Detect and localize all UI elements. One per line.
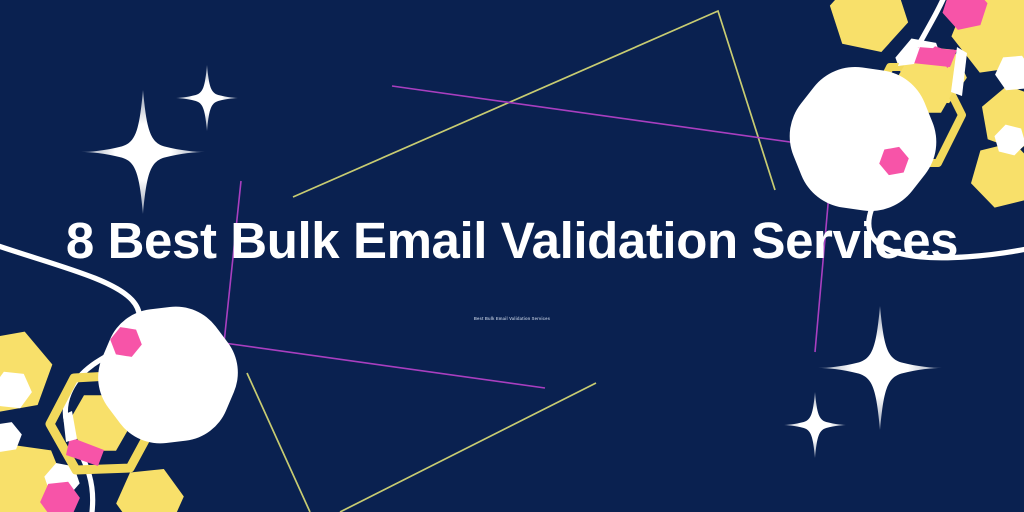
page-title: 8 Best Bulk Email Validation Services [66, 215, 958, 266]
hero-banner: 8 Best Bulk Email Validation Services Be… [0, 0, 1024, 512]
micro-caption-text: Best Bulk Email Validation Services [0, 316, 1024, 321]
